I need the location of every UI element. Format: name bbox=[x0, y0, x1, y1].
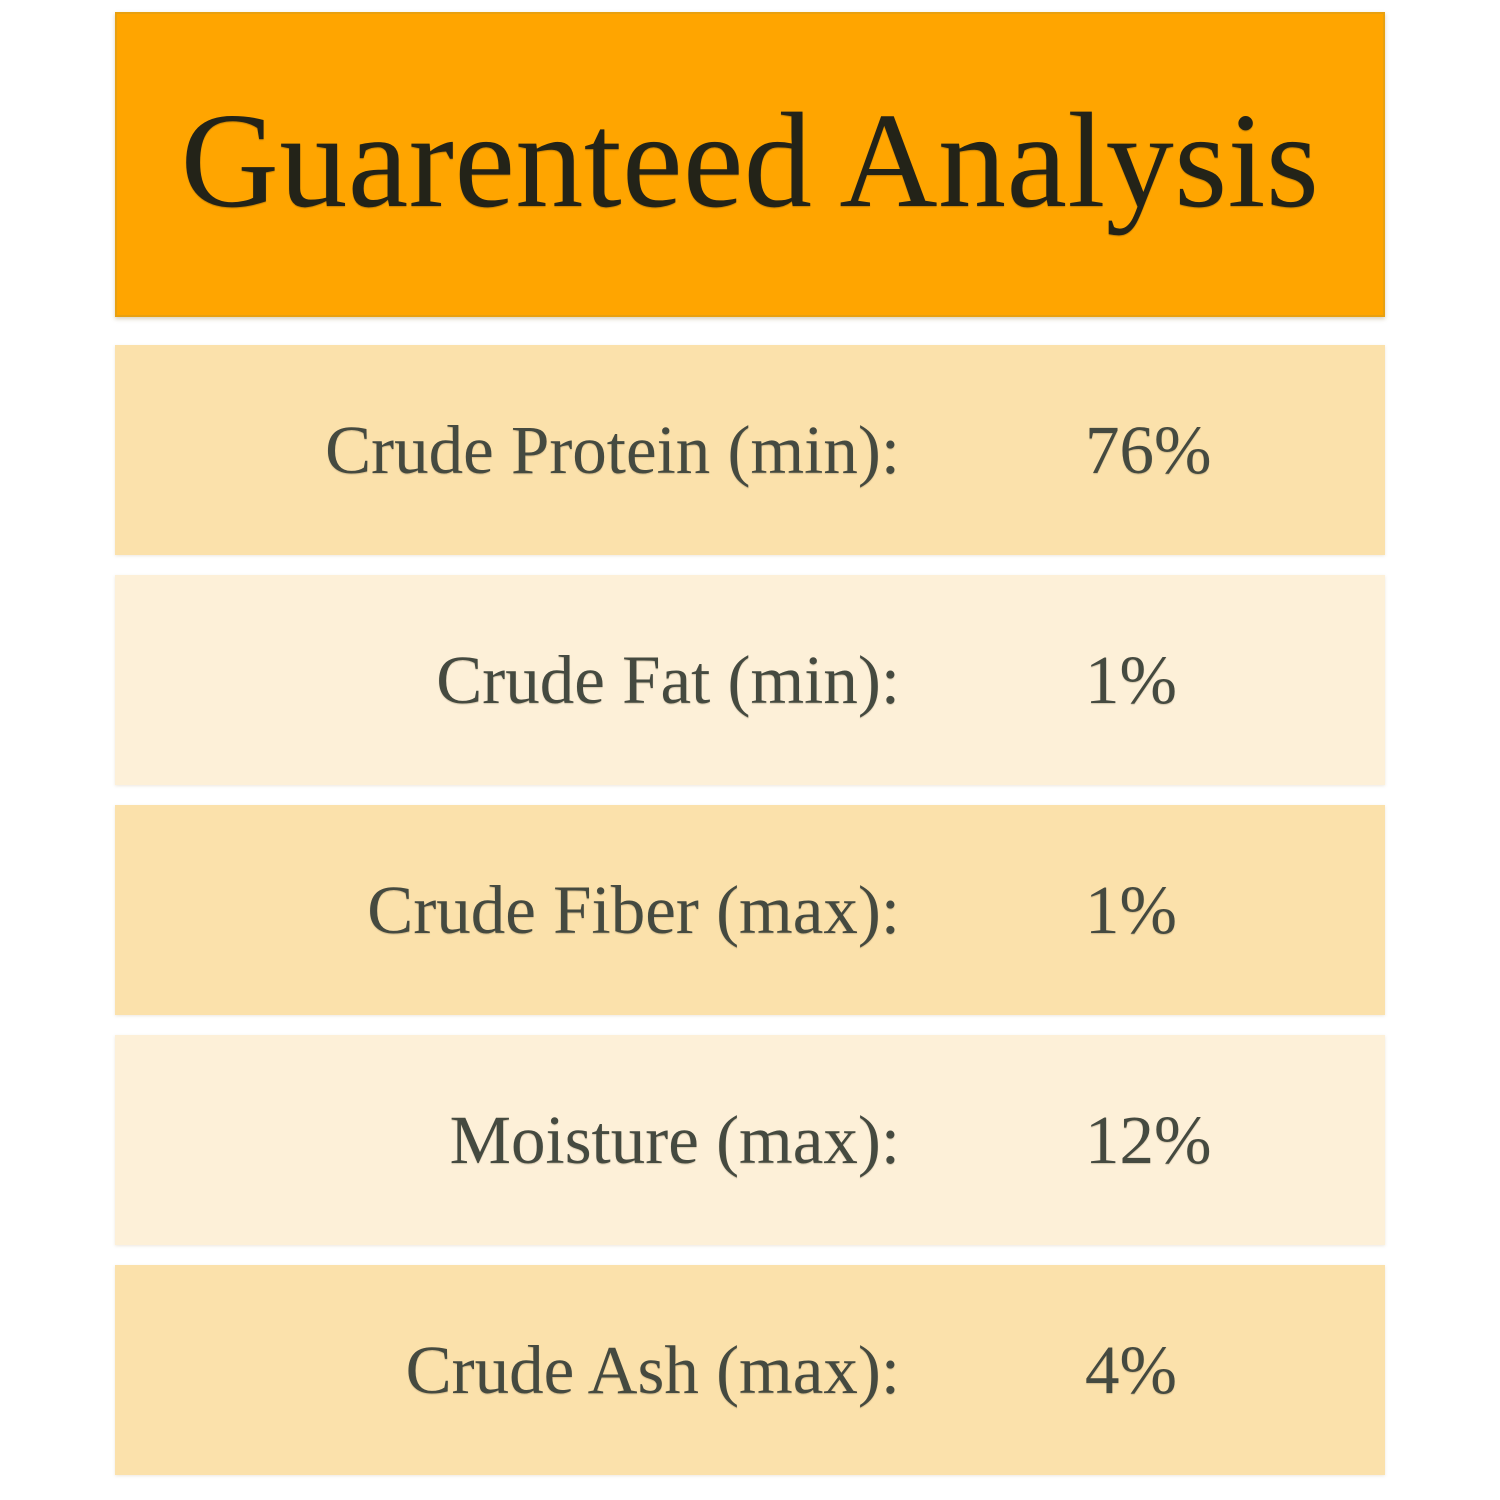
panel-header-banner: Guarenteed Analysis bbox=[115, 12, 1385, 317]
nutrient-label: Crude Fiber (max): bbox=[115, 876, 900, 945]
guaranteed-analysis-panel: Guarenteed Analysis Crude Protein (min):… bbox=[115, 12, 1385, 1475]
nutrient-rows-list: Crude Protein (min): 76% Crude Fat (min)… bbox=[115, 345, 1385, 1475]
nutrient-value: 76% bbox=[900, 416, 1385, 485]
nutrient-label: Crude Protein (min): bbox=[115, 416, 900, 485]
table-row: Crude Fiber (max): 1% bbox=[115, 805, 1385, 1015]
page-title: Guarenteed Analysis bbox=[181, 93, 1320, 237]
nutrient-label: Crude Ash (max): bbox=[115, 1336, 900, 1405]
nutrient-value: 1% bbox=[900, 876, 1385, 945]
table-row: Crude Protein (min): 76% bbox=[115, 345, 1385, 555]
nutrient-value: 12% bbox=[900, 1106, 1385, 1175]
nutrient-value: 1% bbox=[900, 646, 1385, 715]
nutrient-label: Moisture (max): bbox=[115, 1106, 900, 1175]
table-row: Moisture (max): 12% bbox=[115, 1035, 1385, 1245]
nutrient-value: 4% bbox=[900, 1336, 1385, 1405]
table-row: Crude Ash (max): 4% bbox=[115, 1265, 1385, 1475]
nutrient-label: Crude Fat (min): bbox=[115, 646, 900, 715]
table-row: Crude Fat (min): 1% bbox=[115, 575, 1385, 785]
